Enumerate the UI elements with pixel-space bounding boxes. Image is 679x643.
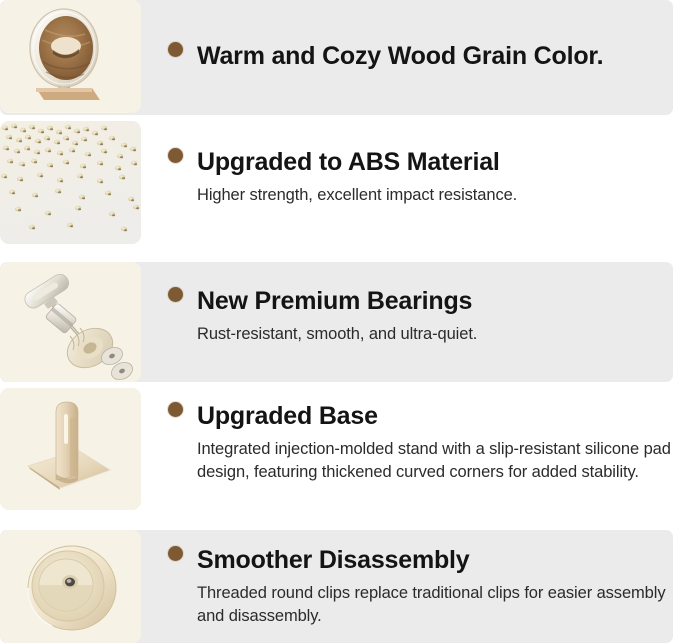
upgraded-base-image: [0, 388, 141, 510]
feature-subtitle: Higher strength, excellent impact resist…: [197, 184, 675, 207]
abs-pellets-image: [0, 121, 141, 244]
wood-grain-fan-thumbnail: [0, 0, 141, 113]
feature-row: Upgraded Base Integrated injection-molde…: [0, 383, 679, 530]
abs-pellets-thumbnail: [0, 121, 141, 244]
feature-row: Smoother Disassembly Threaded round clip…: [0, 530, 679, 643]
feature-title: Upgraded to ABS Material: [197, 148, 675, 177]
feature-list: Warm and Cozy Wood Grain Color.: [0, 0, 679, 643]
bullet-dot-icon: [168, 42, 183, 57]
feature-subtitle: Rust-resistant, smooth, and ultra-quiet.: [197, 323, 675, 346]
bullet-dot-icon: [168, 546, 183, 561]
wood-grain-fan-image: [0, 0, 141, 113]
bearing-parts-thumbnail: [0, 262, 141, 382]
feature-title: Warm and Cozy Wood Grain Color.: [197, 42, 675, 71]
feature-row: New Premium Bearings Rust-resistant, smo…: [0, 262, 679, 383]
feature-subtitle: Threaded round clips replace traditional…: [197, 582, 675, 627]
feature-subtitle: Integrated injection-molded stand with a…: [197, 438, 675, 483]
feature-row: Warm and Cozy Wood Grain Color.: [0, 0, 679, 117]
feature-title: New Premium Bearings: [197, 287, 675, 316]
threaded-round-clip-thumbnail: [0, 530, 141, 643]
upgraded-base-thumbnail: [0, 388, 141, 510]
feature-title: Smoother Disassembly: [197, 546, 675, 575]
bullet-dot-icon: [168, 148, 183, 163]
bullet-dot-icon: [168, 287, 183, 302]
feature-row: Upgraded to ABS Material Higher strength…: [0, 117, 679, 262]
threaded-round-clip-image: [0, 530, 141, 643]
bearing-parts-image: [0, 262, 141, 382]
feature-title: Upgraded Base: [197, 402, 675, 431]
bullet-dot-icon: [168, 402, 183, 417]
